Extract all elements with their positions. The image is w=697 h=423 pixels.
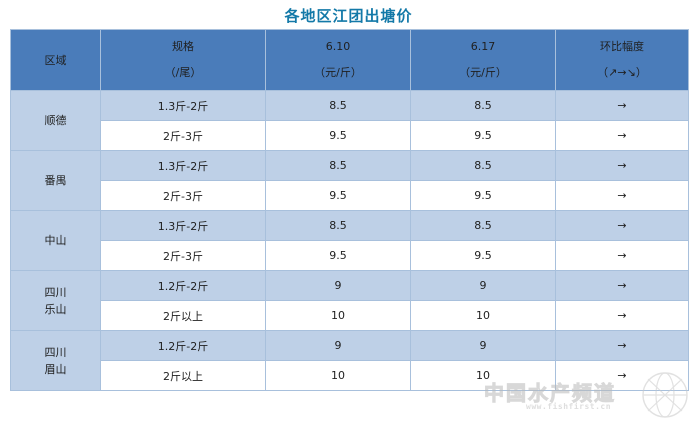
region-label-line1: 顺德	[11, 112, 100, 129]
cell-price-0617: 9.5	[411, 181, 556, 211]
region-label-line1: 番禺	[11, 172, 100, 189]
cell-price-0610: 10	[266, 301, 411, 331]
cell-change-arrow: →	[556, 91, 689, 121]
column-header-region-label: 区域	[45, 54, 67, 67]
column-header-spec-unit: （/尾）	[165, 66, 202, 80]
cell-price-0617: 9.5	[411, 241, 556, 271]
table-row: 四川眉山1.2斤-2斤99→	[11, 331, 689, 361]
cell-change-arrow: →	[556, 361, 689, 391]
cell-price-0610: 9.5	[266, 241, 411, 271]
table-row: 四川乐山1.2斤-2斤99→	[11, 271, 689, 301]
cell-price-0610: 9.5	[266, 181, 411, 211]
cell-region: 中山	[11, 211, 101, 271]
column-header-spec-label: 规格	[172, 40, 194, 54]
cell-change-arrow: →	[556, 211, 689, 241]
cell-change-arrow: →	[556, 151, 689, 181]
column-header-spec: 规格 （/尾）	[101, 30, 266, 91]
cell-region: 番禺	[11, 151, 101, 211]
column-header-price-0610-unit: （元/斤）	[314, 66, 362, 80]
cell-price-0617: 10	[411, 361, 556, 391]
cell-spec: 1.2斤-2斤	[101, 331, 266, 361]
cell-price-0617: 9.5	[411, 121, 556, 151]
cell-spec: 1.3斤-2斤	[101, 91, 266, 121]
cell-price-0610: 8.5	[266, 151, 411, 181]
table-row: 中山1.3斤-2斤8.58.5→	[11, 211, 689, 241]
cell-spec: 1.3斤-2斤	[101, 211, 266, 241]
table-body: 顺德1.3斤-2斤8.58.5→2斤-3斤9.59.5→番禺1.3斤-2斤8.5…	[11, 91, 689, 391]
column-header-price-0617: 6.17 （元/斤）	[411, 30, 556, 91]
cell-price-0610: 9	[266, 271, 411, 301]
column-header-price-0617-unit: （元/斤）	[459, 66, 507, 80]
cell-price-0610: 9.5	[266, 121, 411, 151]
cell-region: 顺德	[11, 91, 101, 151]
table-row: 2斤-3斤9.59.5→	[11, 241, 689, 271]
table-row: 2斤以上1010→	[11, 301, 689, 331]
watermark-url: www.fishfirst.cn	[526, 402, 611, 411]
cell-price-0610: 8.5	[266, 91, 411, 121]
region-label-line1: 四川	[11, 284, 100, 301]
table-row: 2斤以上1010→	[11, 361, 689, 391]
cell-spec: 2斤-3斤	[101, 121, 266, 151]
page-root: 各地区江团出塘价 区域 规格 （/尾）	[0, 0, 697, 423]
cell-price-0610: 9	[266, 331, 411, 361]
cell-change-arrow: →	[556, 331, 689, 361]
column-header-change-label: 环比幅度	[600, 40, 644, 54]
cell-change-arrow: →	[556, 241, 689, 271]
table-row: 顺德1.3斤-2斤8.58.5→	[11, 91, 689, 121]
region-label-line2: 眉山	[11, 361, 100, 378]
page-title: 各地区江团出塘价	[0, 0, 697, 26]
cell-change-arrow: →	[556, 181, 689, 211]
region-label-line1: 中山	[11, 232, 100, 249]
cell-change-arrow: →	[556, 121, 689, 151]
cell-change-arrow: →	[556, 271, 689, 301]
cell-spec: 2斤-3斤	[101, 181, 266, 211]
table-header: 区域 规格 （/尾） 6.10 （元/斤）	[11, 30, 689, 91]
cell-spec: 1.2斤-2斤	[101, 271, 266, 301]
cell-region: 四川乐山	[11, 271, 101, 331]
cell-price-0610: 8.5	[266, 211, 411, 241]
table-row: 2斤-3斤9.59.5→	[11, 181, 689, 211]
cell-spec: 2斤以上	[101, 361, 266, 391]
cell-price-0617: 8.5	[411, 211, 556, 241]
column-header-region: 区域	[11, 30, 101, 91]
cell-price-0617: 8.5	[411, 151, 556, 181]
table-header-row: 区域 规格 （/尾） 6.10 （元/斤）	[11, 30, 689, 91]
column-header-change: 环比幅度 （↗→↘）	[556, 30, 689, 91]
cell-price-0610: 10	[266, 361, 411, 391]
column-header-price-0617-date: 6.17	[471, 40, 496, 54]
cell-price-0617: 10	[411, 301, 556, 331]
column-header-price-0610-date: 6.10	[326, 40, 351, 54]
price-table-container: 区域 规格 （/尾） 6.10 （元/斤）	[10, 29, 688, 391]
cell-price-0617: 9	[411, 271, 556, 301]
cell-spec: 2斤-3斤	[101, 241, 266, 271]
cell-change-arrow: →	[556, 301, 689, 331]
column-header-price-0610: 6.10 （元/斤）	[266, 30, 411, 91]
table-row: 番禺1.3斤-2斤8.58.5→	[11, 151, 689, 181]
region-label-line1: 四川	[11, 344, 100, 361]
region-label-line2: 乐山	[11, 301, 100, 318]
cell-region: 四川眉山	[11, 331, 101, 391]
cell-price-0617: 8.5	[411, 91, 556, 121]
column-header-change-legend: （↗→↘）	[597, 66, 647, 80]
table-row: 2斤-3斤9.59.5→	[11, 121, 689, 151]
price-table: 区域 规格 （/尾） 6.10 （元/斤）	[10, 29, 689, 391]
cell-spec: 2斤以上	[101, 301, 266, 331]
cell-spec: 1.3斤-2斤	[101, 151, 266, 181]
cell-price-0617: 9	[411, 331, 556, 361]
